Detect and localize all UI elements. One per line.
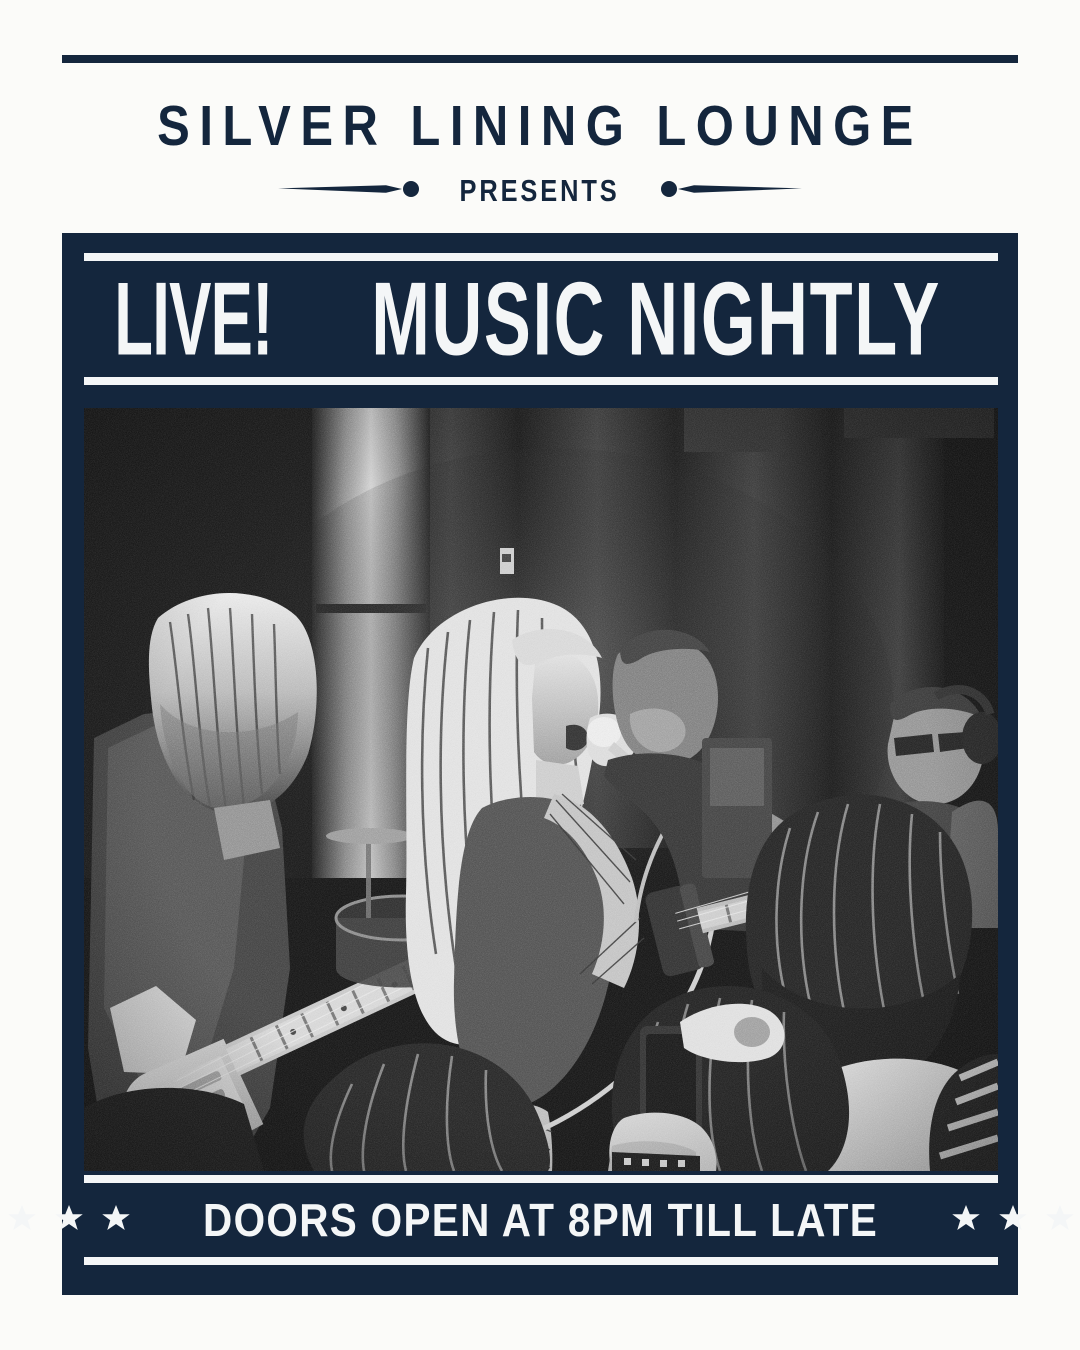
footer-bottom-rule — [84, 1257, 998, 1265]
star-icon — [54, 1203, 84, 1238]
right-arrow-ornament-icon — [652, 176, 802, 207]
title-main-label: MUSIC NIGHTLY — [371, 267, 941, 371]
footer-block: DOORS OPEN AT 8PM TILL LATE — [84, 1175, 998, 1265]
left-arrow-ornament-icon — [278, 176, 428, 207]
footer-row: DOORS OPEN AT 8PM TILL LATE — [84, 1183, 998, 1257]
title-block: LIVE! MUSIC NIGHTLY — [84, 253, 998, 385]
stars-right — [951, 1203, 1075, 1238]
poster-frame: LIVE! MUSIC NIGHTLY — [62, 233, 1018, 1295]
star-icon — [7, 1203, 37, 1238]
title-live-label: LIVE! — [114, 267, 270, 371]
poster-root: SILVER LINING LOUNGE PRESENTS L — [0, 0, 1080, 1350]
star-icon — [998, 1203, 1028, 1238]
stars-left — [7, 1203, 131, 1238]
footer-text: DOORS OPEN AT 8PM TILL LATE — [181, 1193, 902, 1247]
presents-row: PRESENTS — [62, 173, 1018, 209]
band-photo — [84, 408, 998, 1171]
title-row: LIVE! MUSIC NIGHTLY — [84, 261, 998, 377]
venue-name: SILVER LINING LOUNGE — [129, 98, 951, 155]
poster-header: SILVER LINING LOUNGE PRESENTS — [62, 55, 1018, 246]
star-icon — [101, 1203, 131, 1238]
star-icon — [951, 1203, 981, 1238]
header-top-rule — [62, 55, 1018, 63]
star-icon — [1045, 1203, 1075, 1238]
footer-top-rule — [84, 1175, 998, 1183]
presents-label: PRESENTS — [455, 173, 625, 209]
title-bottom-rule — [84, 377, 998, 385]
